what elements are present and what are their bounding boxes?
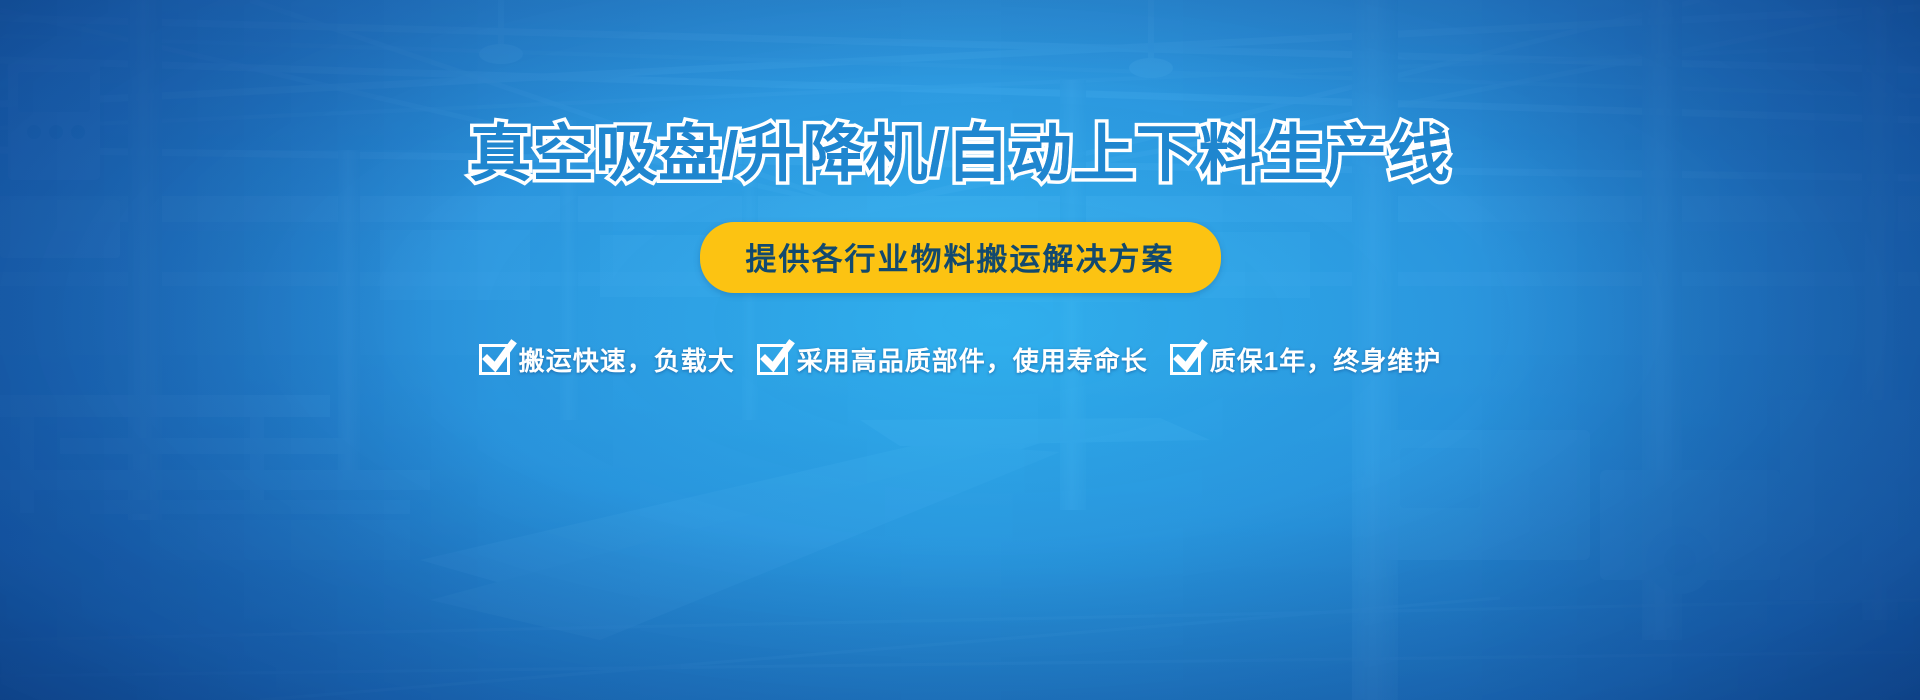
- feature-item: 采用高品质部件，使用寿命长: [757, 341, 1148, 378]
- feature-label: 采用高品质部件，使用寿命长: [797, 341, 1148, 378]
- hero-banner: 真空吸盘/升降机/自动上下料生产线 真空吸盘/升降机/自动上下料生产线 提供各行…: [0, 0, 1920, 700]
- checkbox-check-icon: [1170, 344, 1201, 375]
- feature-list: 搬运快速，负载大 采用高品质部件，使用寿命长 质保1年，终身维护: [479, 341, 1442, 378]
- feature-item: 质保1年，终身维护: [1170, 341, 1441, 378]
- check-mark-glyph: [1169, 339, 1209, 379]
- feature-label: 质保1年，终身维护: [1210, 341, 1441, 378]
- feature-item: 搬运快速，负载大: [479, 341, 735, 378]
- checkbox-check-icon: [757, 344, 788, 375]
- banner-headline-fill: 真空吸盘/升降机/自动上下料生产线: [469, 124, 1450, 186]
- check-mark-glyph: [478, 339, 518, 379]
- checkbox-check-icon: [479, 344, 510, 375]
- feature-label: 搬运快速，负载大: [519, 341, 735, 378]
- check-mark-glyph: [756, 339, 796, 379]
- subtitle-pill: 提供各行业物料搬运解决方案: [700, 222, 1221, 293]
- banner-content: 真空吸盘/升降机/自动上下料生产线 真空吸盘/升降机/自动上下料生产线 提供各行…: [0, 0, 1920, 700]
- headline-wrapper: 真空吸盘/升降机/自动上下料生产线 真空吸盘/升降机/自动上下料生产线: [469, 124, 1450, 186]
